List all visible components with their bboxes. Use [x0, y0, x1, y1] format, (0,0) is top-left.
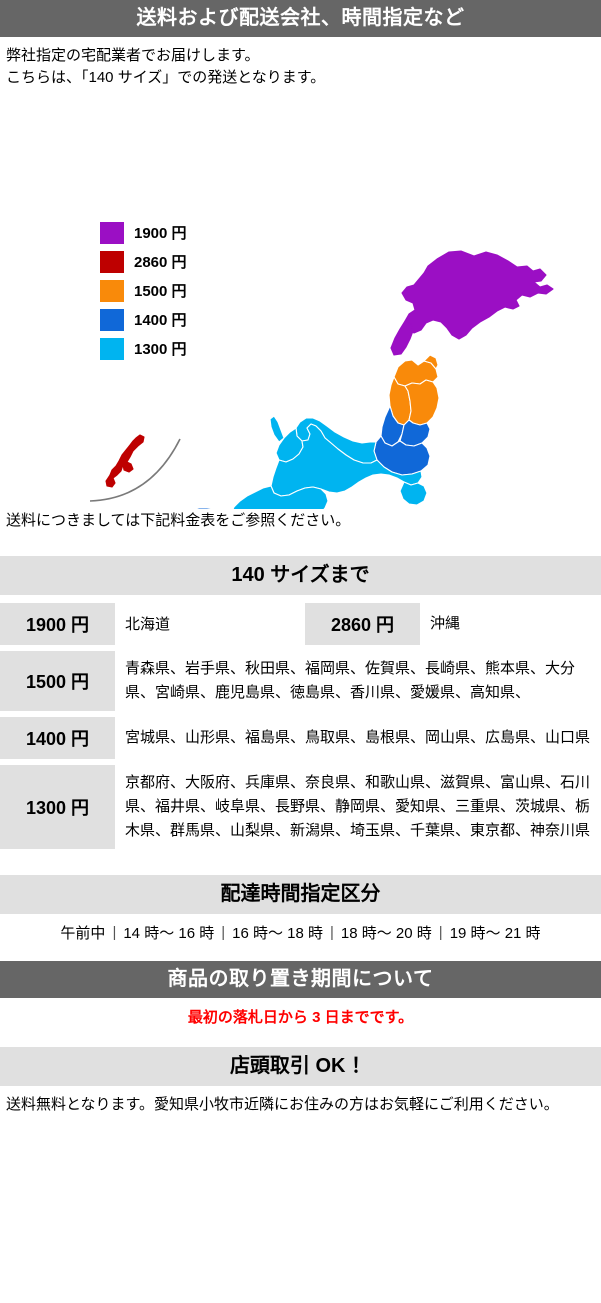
- intro-line-2: こちらは、「140 サイズ」での発送となります。: [6, 67, 595, 89]
- legend-label-1300: 1300 円: [134, 338, 187, 359]
- legend-item: 1300 円: [100, 338, 187, 360]
- fee-area-hokkaido: 北海道: [115, 603, 305, 645]
- legend-swatch-1400: [100, 309, 124, 331]
- legend-swatch-1500: [100, 280, 124, 302]
- store-pickup-note: 送料無料となります。愛知県小牧市近隣にお住みの方はお気軽にご利用ください。: [0, 1086, 601, 1114]
- fee-price-1900: 1900 円: [0, 603, 115, 645]
- time-slot-18-20: 18 時～ 20 時: [334, 922, 439, 943]
- legend-item: 1500 円: [100, 280, 187, 302]
- time-slot-19-21: 19 時～ 21 時: [443, 922, 548, 943]
- fee-area-1400: 宮城県、山形県、福島県、鳥取県、島根県、岡山県、広島県、山口県: [115, 717, 601, 759]
- japan-shipping-map: 1900 円 2860 円 1500 円 1400 円 1300 円: [0, 89, 601, 509]
- legend-label-2860: 2860 円: [134, 251, 187, 272]
- map-region-hokkaido: [391, 251, 553, 355]
- fee-price-1500: 1500 円: [0, 651, 115, 711]
- legend-item: 1400 円: [100, 309, 187, 331]
- time-slot-list: 午前中 | 14 時～ 16 時 | 16 時～ 18 時 | 18 時～ 20…: [0, 914, 601, 947]
- table-row: 1400 円 宮城県、山形県、福島県、鳥取県、島根県、岡山県、広島県、山口県: [0, 717, 601, 759]
- legend-item: 2860 円: [100, 251, 187, 273]
- time-header: 配達時間指定区分: [0, 875, 601, 914]
- shipping-header: 送料および配送会社、時間指定など: [0, 0, 601, 37]
- fee-table: 1900 円 北海道 2860 円 沖縄 1500 円 青森県、岩手県、秋田県、…: [0, 603, 601, 849]
- fee-area-1500: 青森県、岩手県、秋田県、福岡県、佐賀県、長崎県、熊本県、大分県、宮崎県、鹿児島県…: [115, 651, 601, 711]
- japan-map-svg: [0, 89, 601, 509]
- map-legend: 1900 円 2860 円 1500 円 1400 円 1300 円: [100, 222, 187, 360]
- fee-price-2860: 2860 円: [305, 603, 420, 645]
- store-pickup-header: 店頭取引 OK ！: [0, 1047, 601, 1086]
- legend-label-1500: 1500 円: [134, 280, 187, 301]
- time-slot-14-16: 14 時～ 16 時: [116, 922, 221, 943]
- time-slot-morning: 午前中: [53, 922, 112, 943]
- fee-price-1400: 1400 円: [0, 717, 115, 759]
- fee-price-1300: 1300 円: [0, 765, 115, 849]
- legend-label-1400: 1400 円: [134, 309, 187, 330]
- legend-item: 1900 円: [100, 222, 187, 244]
- map-region-okinawa: [106, 435, 144, 487]
- table-row: 1300 円 京都府、大阪府、兵庫県、奈良県、和歌山県、滋賀県、富山県、石川県、…: [0, 765, 601, 849]
- table-row: 1900 円 北海道 2860 円 沖縄: [0, 603, 601, 645]
- fee-area-okinawa: 沖縄: [420, 603, 601, 645]
- size-header: 140 サイズまで: [0, 556, 601, 595]
- map-region-chugoku: [159, 508, 241, 509]
- legend-swatch-1900: [100, 222, 124, 244]
- intro-line-1: 弊社指定の宅配業者でお届けします。: [6, 45, 595, 67]
- hold-period-header: 商品の取り置き期間について: [0, 961, 601, 998]
- map-note: 送料につきましては下記料金表をご参照ください。: [0, 509, 601, 530]
- hold-period-note: 最初の落札日から 3 日までです。: [0, 998, 601, 1027]
- legend-swatch-1300: [100, 338, 124, 360]
- time-slot-16-18: 16 時～ 18 時: [225, 922, 330, 943]
- intro-text: 弊社指定の宅配業者でお届けします。 こちらは、「140 サイズ」での発送となりま…: [0, 37, 601, 89]
- fee-area-1300: 京都府、大阪府、兵庫県、奈良県、和歌山県、滋賀県、富山県、石川県、福井県、岐阜県…: [115, 765, 601, 849]
- map-region-tohoku-north: [389, 355, 439, 425]
- legend-label-1900: 1900 円: [134, 222, 187, 243]
- table-row: 1500 円 青森県、岩手県、秋田県、福岡県、佐賀県、長崎県、熊本県、大分県、宮…: [0, 651, 601, 711]
- legend-swatch-2860: [100, 251, 124, 273]
